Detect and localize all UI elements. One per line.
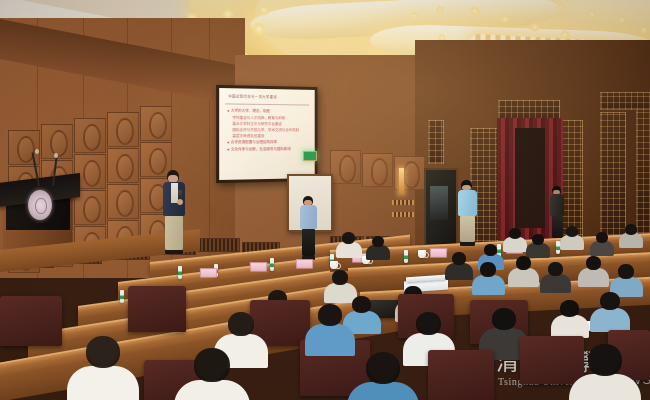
audience-10-head [332, 270, 348, 285]
downlight-18 [560, 30, 570, 40]
audience-13-shoulders [540, 274, 571, 293]
downlight-22 [588, 10, 596, 18]
name-card-1 [200, 268, 217, 278]
lattice-pilaster-6 [498, 100, 560, 120]
audience-1-shoulders [336, 242, 362, 258]
downlight-10 [252, 22, 266, 36]
audience-21-head [228, 312, 254, 336]
seat-back-1 [0, 296, 62, 346]
oval-wall-panel-4 [107, 112, 139, 147]
projection-screen: 中国式现代化与一流大学建设 大学的大学、理念、制度学科建设与人才培养、教育与科研… [219, 88, 315, 180]
audience-25-shoulders [67, 366, 139, 400]
wall-bracket-upper [392, 200, 414, 205]
audience-20-shoulders [551, 315, 589, 338]
audience-26-head [194, 348, 230, 382]
audience-15-head [618, 264, 634, 279]
cabinet-glass [430, 186, 448, 220]
audience-17-head [352, 296, 371, 313]
audience-3-head [509, 228, 521, 239]
lattice-pilaster-5 [428, 120, 444, 164]
slide-line-7: 文化传承与创新、社会服务与国际影响 [227, 146, 309, 154]
audience-12-shoulders [508, 268, 539, 287]
standing-right-legs [460, 216, 475, 242]
wall-light-fixture [399, 168, 404, 194]
audience-28-head [588, 344, 622, 376]
water-bottle-8 [120, 290, 124, 303]
audience-24-head [492, 308, 516, 330]
audience-10-shoulders [324, 283, 357, 303]
wall-bracket-lower [392, 212, 414, 217]
standing-right-shoes [460, 242, 475, 246]
downlight-15 [470, 6, 480, 16]
audience-22-shoulders [305, 324, 355, 356]
downlight-35 [436, 6, 444, 14]
audience-22-head [318, 304, 342, 326]
standing-back-legs [552, 216, 563, 238]
audience-2-head [372, 236, 384, 247]
audience-19-shoulders [590, 308, 630, 332]
downlight-16 [500, 14, 510, 24]
water-bottle-1 [178, 266, 182, 279]
audience-27-shoulders [347, 382, 419, 400]
audience-26-shoulders [174, 380, 250, 400]
audience-2-shoulders [366, 245, 390, 260]
downlight-14 [258, 4, 270, 16]
standing-right-torso [458, 190, 477, 216]
name-card-3 [296, 259, 313, 269]
audience-3-shoulders [503, 237, 527, 252]
standing-left-torso [300, 205, 317, 229]
name-card-5 [430, 248, 447, 258]
seat-back-2 [128, 286, 186, 332]
oval-wall-panel-5 [140, 106, 172, 141]
downlight-21 [556, 4, 564, 12]
wall-vent-5 [198, 238, 240, 252]
audience-9-shoulders [445, 263, 473, 280]
standing-left-legs [302, 229, 315, 256]
audience-14-shoulders [578, 268, 609, 287]
water-bottle-5 [404, 250, 408, 263]
oval-wall-panel-22 [362, 153, 393, 187]
tea-cup-1 [330, 261, 338, 269]
standing-back-torso [550, 194, 564, 216]
audience-11-shoulders [472, 275, 505, 295]
exit-sign [303, 151, 317, 161]
podium-emblem [28, 190, 52, 220]
downlight-17 [530, 22, 540, 32]
audience-20-head [560, 300, 579, 317]
slide-body: 大学的大学、理念、制度学科建设与人才培养、教育与科研高水平学科交叉与研究平台建设… [227, 108, 309, 154]
lattice-pilaster-3 [600, 112, 626, 236]
oval-wall-panel-9 [107, 148, 139, 183]
oval-wall-panel-14 [107, 184, 139, 219]
projection-screen-frame: 中国式现代化与一流大学建设 大学的大学、理念、制度学科建设与人才培养、教育与科研… [216, 85, 317, 183]
oval-wall-panel-21 [330, 150, 361, 184]
audience-4-shoulders [526, 243, 550, 258]
downlight-23 [618, 16, 626, 24]
seat-back-9 [520, 336, 584, 384]
speaker-hand [177, 199, 183, 205]
audience-23-head [416, 312, 441, 335]
downlight-24 [640, 26, 648, 34]
speaker-legs [165, 216, 183, 250]
audience-14-head [586, 256, 601, 270]
name-card-2 [250, 262, 267, 272]
audience-13-head [548, 262, 563, 276]
oval-wall-panel-1 [8, 130, 40, 165]
photo-scene: 中国式现代化与一流大学建设 大学的大学、理念、制度学科建设与人才培养、教育与科研… [0, 0, 650, 400]
audience-9-head [452, 252, 466, 265]
audience-5-head [566, 226, 578, 237]
audience-12-head [516, 256, 531, 270]
water-bottle-3 [270, 258, 274, 271]
audience-6-shoulders [590, 241, 614, 256]
podium-microphone-head-1 [35, 149, 39, 154]
audience-27-head [366, 352, 400, 384]
audience-5-shoulders [560, 235, 584, 250]
speaker-shoes [165, 250, 183, 254]
audience-7-shoulders [619, 233, 643, 248]
audience-8-head [484, 244, 497, 256]
curtain-opening [515, 128, 545, 228]
audience-11-head [480, 262, 496, 277]
audience-28-shoulders [569, 374, 641, 400]
audience-7-head [625, 224, 637, 235]
audience-19-head [600, 292, 620, 310]
oval-wall-panel-3 [74, 118, 106, 153]
audience-25-head [86, 336, 120, 368]
lattice-pilaster-7 [600, 92, 650, 110]
slide-divider [225, 103, 309, 105]
audience-1-head [342, 232, 355, 244]
audience-6-head [596, 232, 608, 243]
seat-back-8 [428, 350, 494, 400]
lattice-pilaster-4 [636, 108, 650, 234]
podium-microphone-head-2 [54, 153, 58, 158]
slide-title: 中国式现代化与一流大学建设 [228, 94, 307, 100]
audience-4-head [532, 234, 544, 245]
tea-cup-3 [418, 250, 426, 258]
downlight-34 [410, 12, 418, 20]
